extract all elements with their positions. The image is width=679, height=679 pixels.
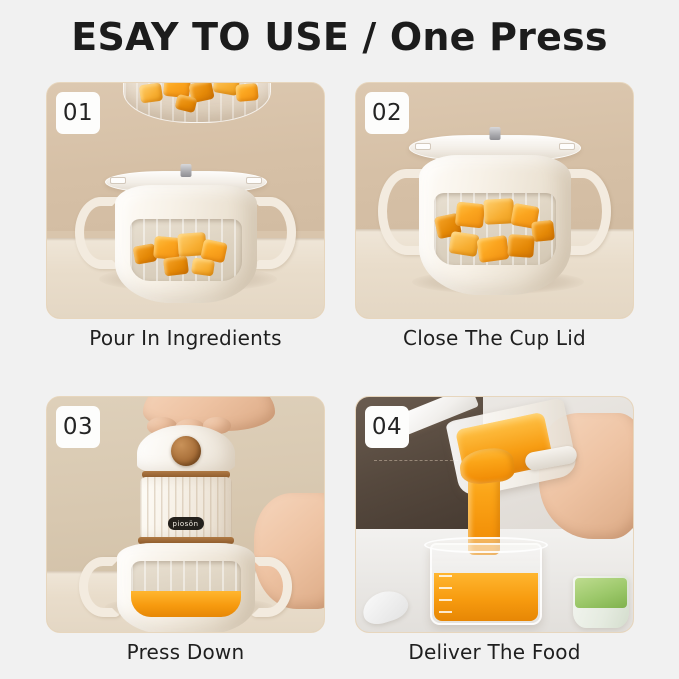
motor-unit: piosön [136, 425, 236, 545]
step-photo-04: 04 [355, 396, 634, 633]
measuring-mark [439, 575, 452, 577]
step-badge-02: 02 [365, 92, 409, 134]
infographic-root: ESAY TO USE / One Press [0, 0, 679, 679]
cup-handle-right [250, 197, 296, 269]
apron-stitch [374, 460, 458, 461]
step-card-04[interactable]: 04 Deliver The Food [355, 396, 634, 662]
step-photo-03: piosön 03 [46, 396, 325, 633]
lid-knob [489, 127, 500, 140]
green-puree-bowl [573, 576, 629, 628]
press-button[interactable] [171, 436, 201, 466]
glass-bowl [123, 82, 271, 123]
step-caption-02: Close The Cup Lid [355, 325, 634, 351]
measuring-cup [430, 543, 542, 625]
motor-dome [137, 425, 235, 473]
cup-window [434, 193, 556, 265]
measuring-mark [439, 611, 452, 613]
cup-handle-left [79, 557, 121, 617]
step-badge-03: 03 [56, 406, 100, 448]
lid-clip-right [246, 177, 262, 184]
blender-cup [47, 539, 324, 633]
green-puree [575, 578, 627, 608]
lid-clip-left [110, 177, 126, 184]
brand-logo: piosön [167, 517, 203, 530]
step-photo-01: 01 [46, 82, 325, 319]
blender-cup [47, 171, 324, 317]
step-card-01[interactable]: 01 Pour In Ingredients [46, 82, 325, 348]
measuring-cup-fill [434, 573, 538, 621]
step-badge-01: 01 [56, 92, 100, 134]
lid-clip-left [415, 143, 431, 150]
lid-knob [180, 164, 191, 177]
measuring-mark [439, 599, 452, 601]
page-title: ESAY TO USE / One Press [0, 14, 679, 60]
step-card-03[interactable]: piosön 03 [46, 396, 325, 662]
step-badge-04: 04 [365, 406, 409, 448]
cup-body [419, 155, 571, 295]
lid-clip-right [559, 143, 575, 150]
cup-body [115, 185, 257, 303]
step-caption-03: Press Down [46, 639, 325, 665]
cup-handle-right [250, 557, 292, 617]
step-card-02[interactable]: 02 Close The Cup Lid [355, 82, 634, 348]
puree-fill [131, 591, 241, 617]
step-caption-01: Pour In Ingredients [46, 325, 325, 351]
measuring-mark [439, 587, 452, 589]
blender-cup [356, 135, 633, 311]
step-caption-04: Deliver The Food [355, 639, 634, 665]
step-photo-02: 02 [355, 82, 634, 319]
measuring-cup-rim [424, 537, 548, 553]
steps-grid: 01 Pour In Ingredients [46, 82, 634, 662]
cup-window [130, 219, 242, 281]
cup-body [117, 543, 255, 633]
cup-window [131, 561, 241, 617]
